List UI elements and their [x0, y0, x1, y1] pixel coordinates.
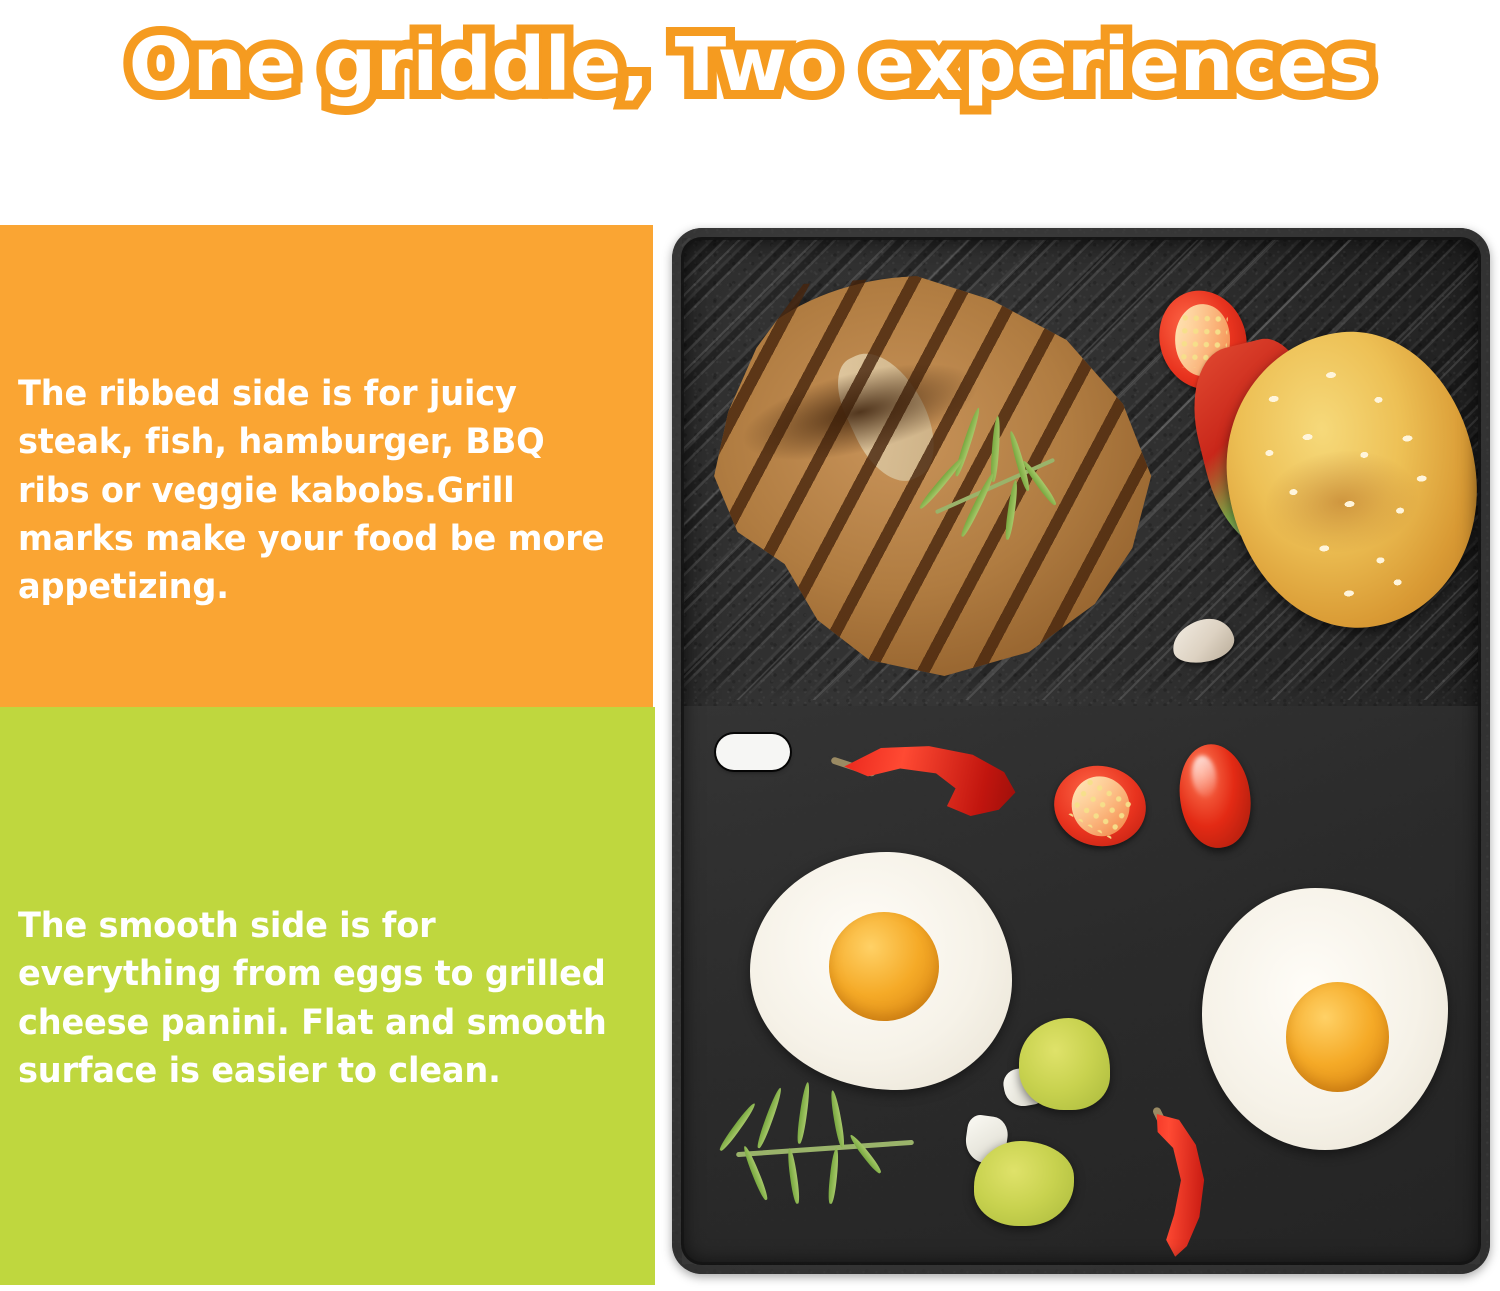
- bun-top: [1213, 320, 1490, 640]
- rosemary-needle: [848, 1133, 883, 1175]
- tomato-seeds: [1066, 774, 1133, 839]
- cast-iron-griddle-product-photo: [672, 228, 1490, 1274]
- fried-egg-left: [750, 852, 1012, 1090]
- broccoli-head: [974, 1141, 1074, 1226]
- rosemary-needle: [1004, 480, 1019, 540]
- cherry-tomato-half-middle: [1048, 759, 1152, 854]
- garlic-body: [1168, 614, 1237, 668]
- rosemary-needle: [786, 1148, 801, 1204]
- rosemary-needle: [718, 1101, 758, 1152]
- chili-body: [830, 727, 1033, 824]
- cherry-tomato-whole: [1173, 740, 1257, 853]
- tomato-skin: [1173, 740, 1257, 853]
- rosemary-needle: [1008, 430, 1032, 492]
- rosemary-needle: [959, 472, 996, 538]
- broccoli-head: [1019, 1018, 1110, 1110]
- rosemary-needle: [990, 416, 1002, 482]
- tomato-flesh: [1048, 759, 1152, 854]
- rosemary-needle: [755, 1087, 783, 1150]
- smooth-side-description: The smooth side is for everything from e…: [18, 902, 612, 1095]
- rosemary-needle: [827, 1148, 840, 1204]
- broccoli-floret-lower: [964, 1114, 1086, 1226]
- egg-yolk: [829, 912, 939, 1021]
- egg-yolk: [1286, 982, 1389, 1092]
- sesame-hamburger-bun: [1228, 332, 1476, 628]
- fried-egg-right: [1202, 888, 1448, 1150]
- rosemary-sprig-on-steak: [912, 396, 1082, 566]
- rosemary-needle: [829, 1090, 846, 1148]
- rosemary-needle: [796, 1082, 812, 1144]
- red-chili-pepper-top: [830, 727, 1033, 824]
- rosemary-sprig-bottom: [722, 1080, 932, 1210]
- ribbed-side-description: The ribbed side is for juicy steak, fish…: [18, 370, 610, 611]
- page-title: One griddle, Two experiences: [128, 28, 1371, 102]
- ribbed-side-info-panel: The ribbed side is for juicy steak, fish…: [0, 225, 653, 707]
- smooth-side-info-panel: The smooth side is for everything from e…: [0, 707, 655, 1285]
- header-banner: One griddle, Two experiences: [0, 0, 1500, 130]
- sesame-seeds: [1213, 320, 1490, 640]
- garlic-clove: [1172, 620, 1234, 662]
- product-marketing-image: One griddle, Two experiences The ribbed …: [0, 0, 1500, 1291]
- handle-slot: [716, 734, 790, 770]
